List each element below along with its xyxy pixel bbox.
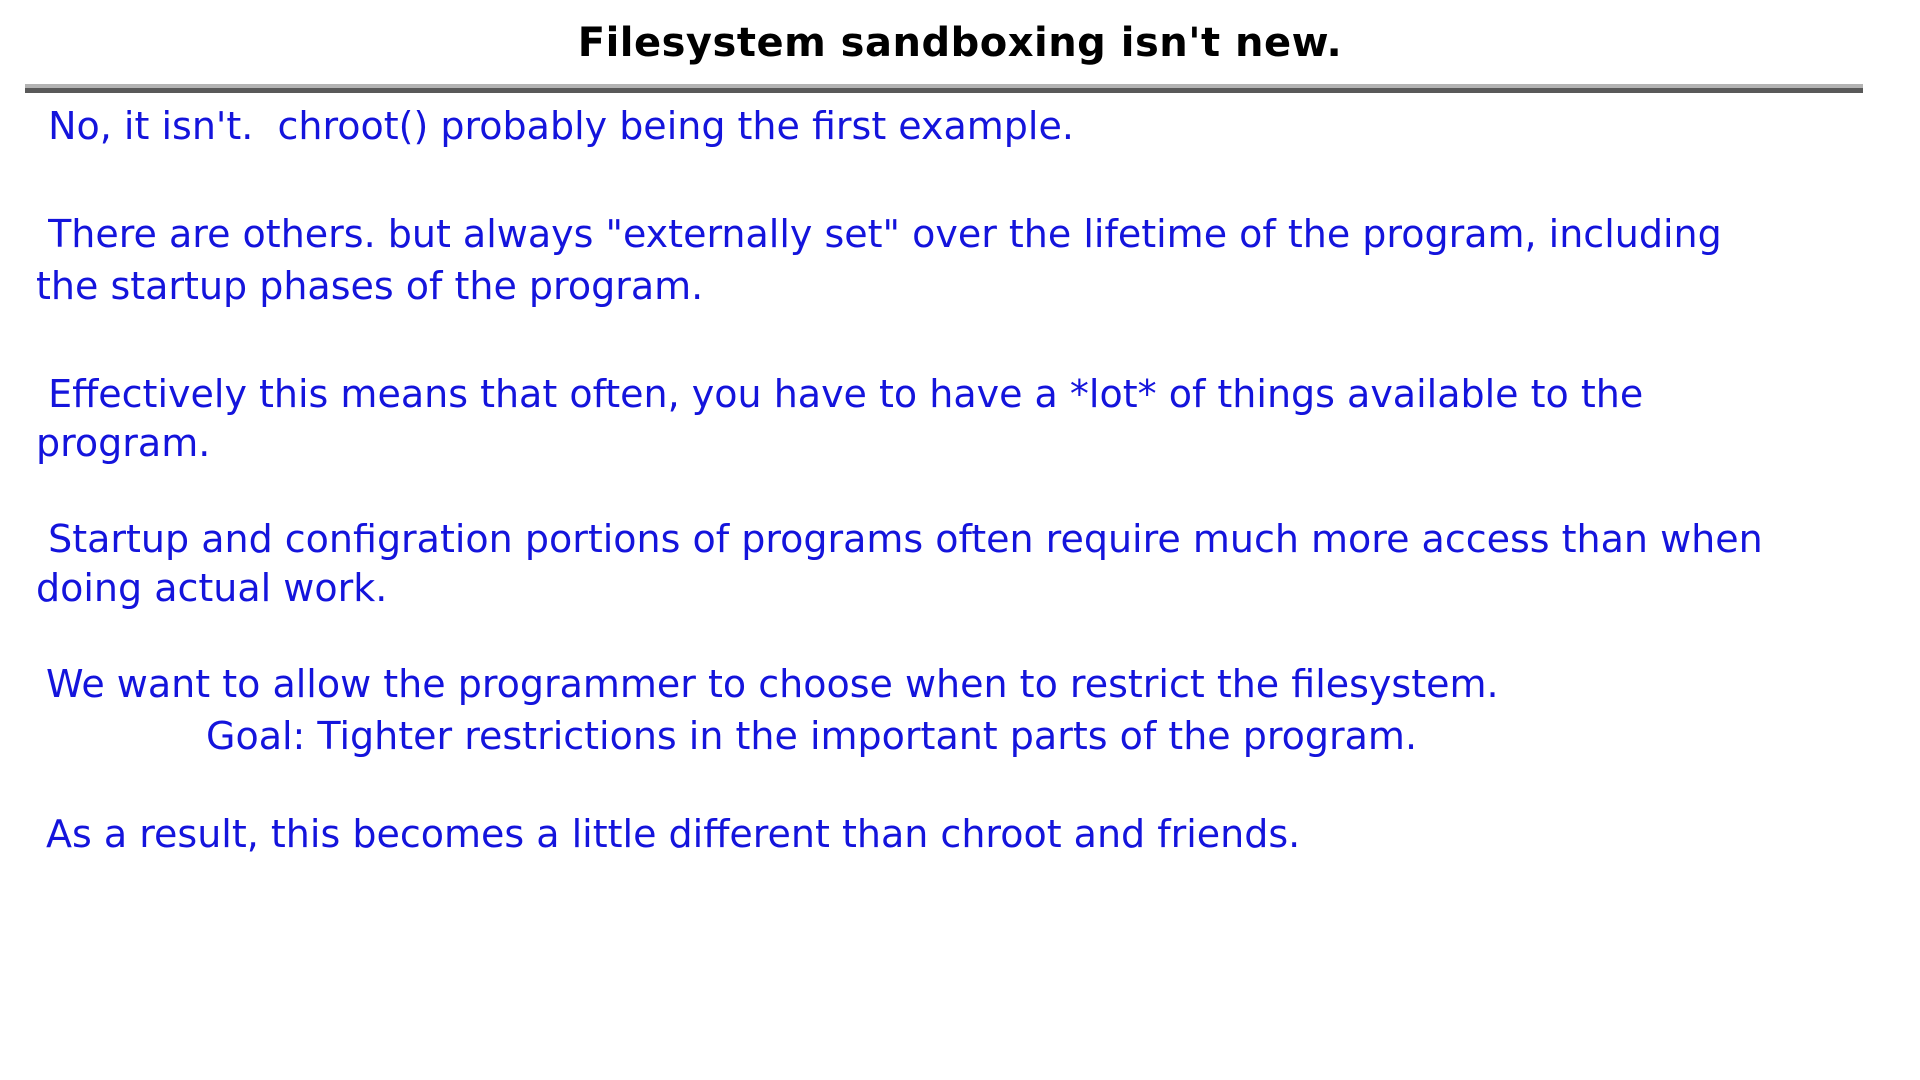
- body-paragraph-4-line-2: doing actual work.: [0, 565, 1920, 612]
- body-paragraph-5-line-1: We want to allow the programmer to choos…: [0, 658, 1920, 710]
- body-paragraph-2-line-2: the startup phases of the program.: [0, 260, 1920, 312]
- paragraph-spacer: [0, 762, 1920, 808]
- body-paragraph-1-line-1: No, it isn't. chroot() probably being th…: [0, 100, 1920, 152]
- paragraph-spacer: [0, 152, 1920, 208]
- body-paragraph-4-line-1: Startup and configration portions of pro…: [0, 513, 1920, 565]
- paragraph-spacer: [0, 312, 1920, 368]
- body-paragraph-2-line-1: There are others. but always "externally…: [0, 208, 1920, 260]
- body-paragraph-6-line-1: As a result, this becomes a little diffe…: [0, 808, 1920, 860]
- paragraph-spacer: [0, 612, 1920, 658]
- body-paragraph-3-line-1: Effectively this means that often, you h…: [0, 368, 1920, 420]
- title-divider-rule: [25, 84, 1863, 93]
- paragraph-spacer: [0, 467, 1920, 513]
- body-paragraph-5-goal-line: Goal: Tighter restrictions in the import…: [0, 710, 1920, 762]
- slide-canvas: Filesystem sandboxing isn't new. No, it …: [0, 0, 1920, 1080]
- page-title: Filesystem sandboxing isn't new.: [0, 18, 1920, 68]
- body-paragraph-3-line-2: program.: [0, 420, 1920, 467]
- slide-body: No, it isn't. chroot() probably being th…: [0, 100, 1920, 860]
